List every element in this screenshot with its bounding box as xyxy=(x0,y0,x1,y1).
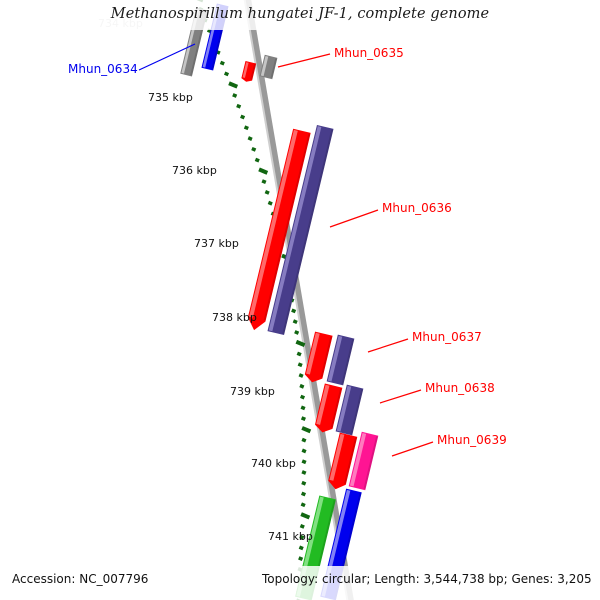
gene-label-mhun_0639[interactable]: Mhun_0639 xyxy=(437,433,507,447)
gene-label-mhun_0635[interactable]: Mhun_0635 xyxy=(334,46,404,60)
axis-tick-marks xyxy=(189,0,311,600)
page-title: Methanospirillum hungatei JF-1, complete… xyxy=(0,6,600,22)
gene-feature[interactable] xyxy=(260,55,278,79)
axis-tick-label: 740 kbp xyxy=(251,457,296,470)
gene-label-mhun_0637[interactable]: Mhun_0637 xyxy=(412,330,482,344)
gene-label-mhun_0634[interactable]: Mhun_0634 xyxy=(68,62,138,76)
genome-viewer: 734 kbp735 kbp736 kbp737 kbp738 kbp739 k… xyxy=(0,0,600,600)
gene-leader-line xyxy=(330,210,378,227)
gene-leader-line xyxy=(392,442,433,456)
gene-label-leader-lines xyxy=(139,44,433,456)
axis-tick-label: 735 kbp xyxy=(148,91,193,104)
axis-tick-label: 738 kbp xyxy=(212,311,257,324)
axis-tick-label: 741 kbp xyxy=(268,530,313,543)
gene-leader-line xyxy=(368,339,408,352)
axis-tick-label: 737 kbp xyxy=(194,237,239,250)
gene-feature[interactable] xyxy=(241,61,256,83)
gene-leader-line xyxy=(380,390,421,403)
axis-tick-label: 736 kbp xyxy=(172,164,217,177)
gene-leader-line xyxy=(278,54,330,67)
gene-features-group[interactable] xyxy=(180,4,378,600)
genome-map-canvas[interactable] xyxy=(0,0,600,600)
gene-label-mhun_0638[interactable]: Mhun_0638 xyxy=(425,381,495,395)
gene-label-mhun_0636[interactable]: Mhun_0636 xyxy=(382,201,452,215)
axis-tick-label: 739 kbp xyxy=(230,385,275,398)
status-accession: Accession: NC_007796 xyxy=(12,572,148,586)
status-topology-length-genes: Topology: circular; Length: 3,544,738 bp… xyxy=(262,572,592,586)
